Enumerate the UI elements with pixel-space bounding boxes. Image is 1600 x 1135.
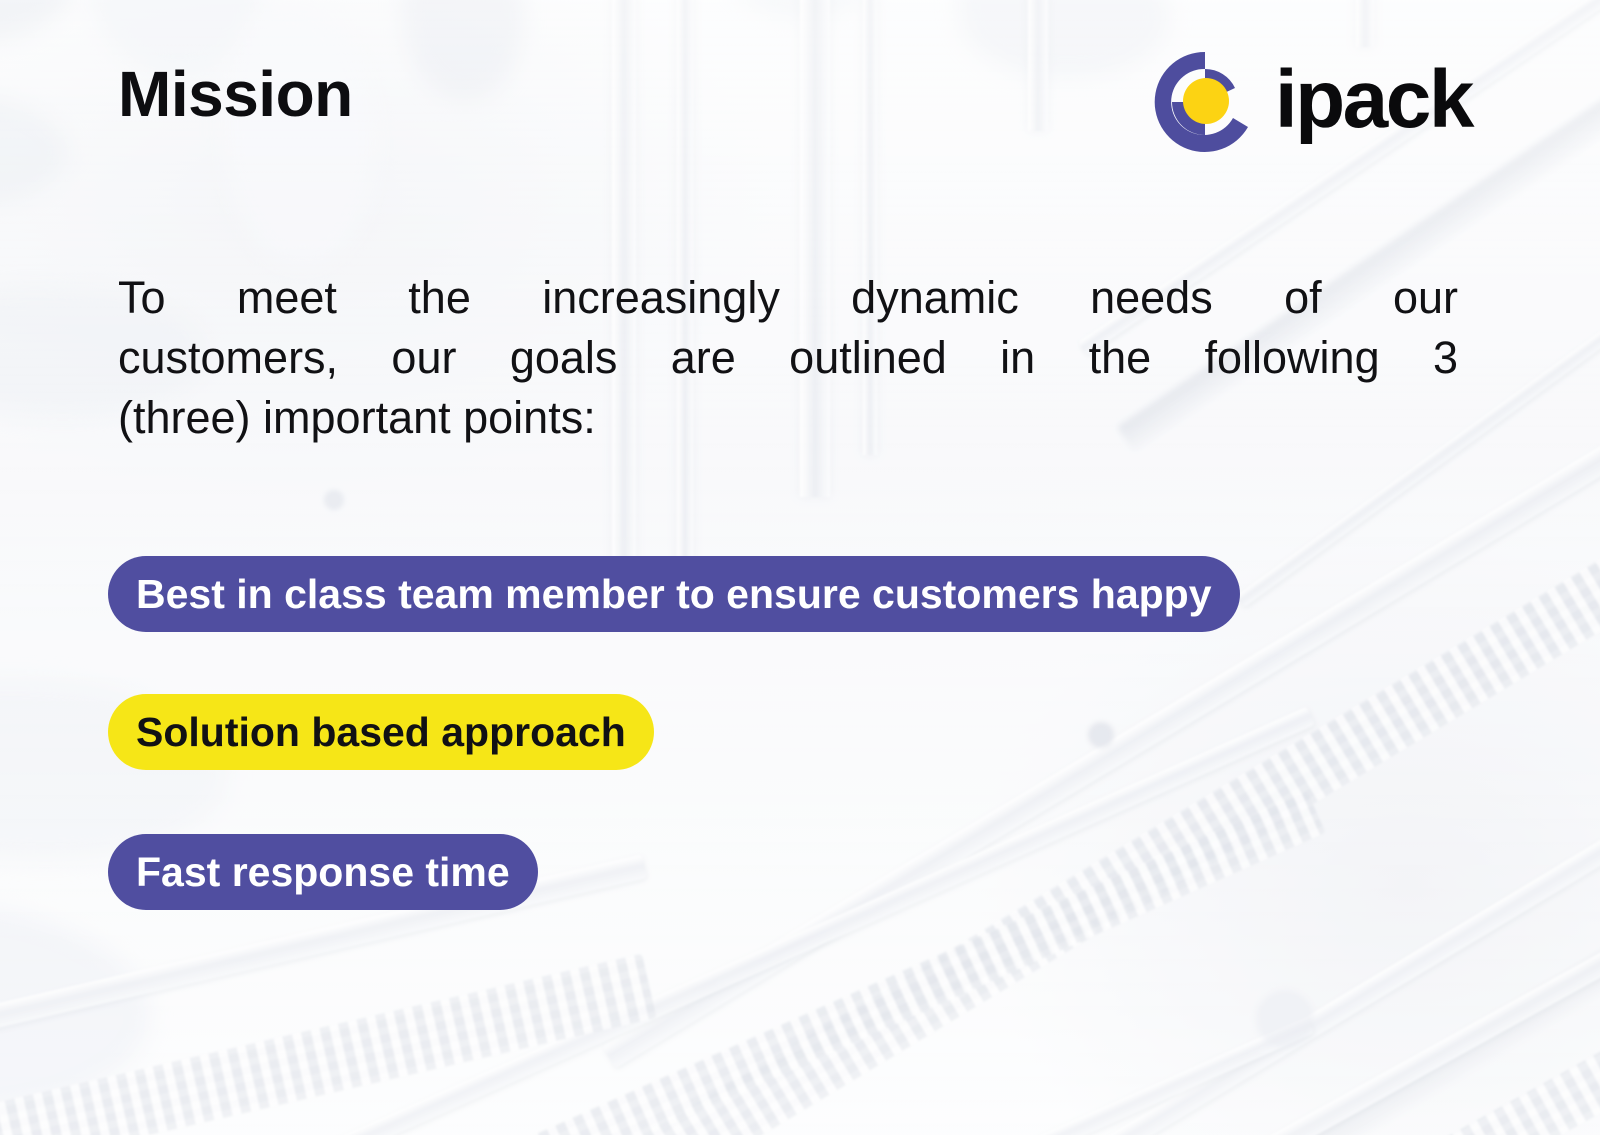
- list-item: Fast response time: [108, 770, 1240, 910]
- mission-point-solution-based[interactable]: Solution based approach: [108, 694, 654, 770]
- mission-point-best-in-class[interactable]: Best in class team member to ensure cust…: [108, 556, 1240, 632]
- page-title: Mission: [118, 62, 353, 126]
- intro-line-1: To meet the increasingly dynamic needs o…: [118, 268, 1458, 328]
- list-item: Best in class team member to ensure cust…: [108, 556, 1240, 632]
- mission-points-list: Best in class team member to ensure cust…: [108, 556, 1240, 910]
- brand-logo: ipack: [1149, 46, 1472, 158]
- brand-wordmark: ipack: [1275, 59, 1472, 141]
- intro-paragraph: To meet the increasingly dynamic needs o…: [118, 268, 1458, 448]
- list-item: Solution based approach: [108, 632, 1240, 770]
- mission-slide: Mission ipack To meet the increasingly d…: [0, 0, 1600, 1135]
- mission-point-fast-response[interactable]: Fast response time: [108, 834, 538, 910]
- intro-line-3: (three) important points:: [118, 388, 1458, 448]
- intro-line-2: customers, our goals are outlined in the…: [118, 328, 1458, 388]
- ipack-circle-logo-icon: [1149, 46, 1261, 158]
